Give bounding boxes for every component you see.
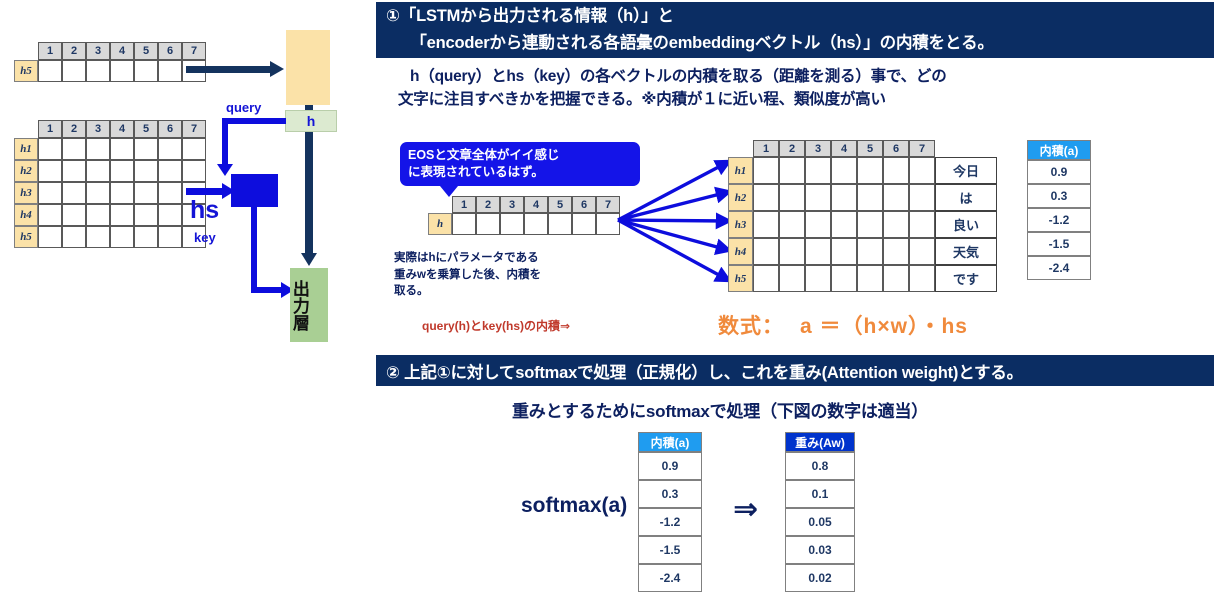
data-cell: [134, 60, 158, 82]
data-cell: [805, 184, 831, 211]
data-cell: [158, 204, 182, 226]
data-cell: [831, 238, 857, 265]
col-header: 1: [38, 42, 62, 60]
row-label: h2: [14, 160, 38, 182]
data-cell: [779, 211, 805, 238]
data-cell: [110, 226, 134, 248]
data-cell: [909, 265, 935, 292]
col-header: 2: [779, 140, 805, 157]
data-cell: [158, 138, 182, 160]
section1-banner-line1: ①「LSTMから出力される情報（h）」と: [376, 1, 994, 32]
data-cell: [883, 265, 909, 292]
data-cell: [62, 160, 86, 182]
section1-note-line2: 重みwを乗算した後、内積を: [394, 267, 541, 284]
data-cell: [476, 213, 500, 235]
data-cell: [158, 182, 182, 204]
attention-box: [231, 174, 278, 207]
section1-h-table: 1 2 3 4 5 6 7 h: [428, 196, 620, 235]
data-cell: [86, 138, 110, 160]
dot-value: -2.4: [1027, 256, 1091, 280]
row-label: h5: [728, 265, 753, 292]
data-cell: [38, 160, 62, 182]
attention-out-horizontal: [251, 287, 283, 293]
section1-note: 実際はhにパラメータである 重みwを乗算した後、内積を 取る。: [394, 250, 541, 300]
weight-table-header: 重み(Aw): [785, 432, 855, 452]
data-cell: [779, 157, 805, 184]
col-header: 6: [572, 196, 596, 213]
left-top-table: 1 2 3 4 5 6 7 h5: [14, 42, 206, 82]
col-header: 2: [62, 120, 86, 138]
section2-dot-table: 内積(a) 0.9 0.3 -1.2 -1.5 -2.4: [638, 432, 702, 592]
data-cell: [805, 157, 831, 184]
section1-note-line3: 取る。: [394, 283, 541, 300]
navy-arrow-shaft: [186, 66, 272, 73]
col-header: 6: [158, 120, 182, 138]
data-cell: [38, 226, 62, 248]
data-cell: [883, 157, 909, 184]
data-cell: [38, 60, 62, 82]
key-label: key: [194, 230, 216, 245]
col-header: 5: [134, 120, 158, 138]
row-label: h4: [728, 238, 753, 265]
data-cell: [134, 138, 158, 160]
col-header: 2: [62, 42, 86, 60]
formula-label: 数式：: [718, 310, 784, 340]
data-cell: [86, 182, 110, 204]
col-header: 1: [38, 120, 62, 138]
weight-value: 0.8: [785, 452, 855, 480]
row-label: h: [428, 213, 452, 235]
data-cell: [779, 265, 805, 292]
data-cell: [86, 204, 110, 226]
data-cell: [86, 160, 110, 182]
data-cell: [134, 204, 158, 226]
data-cell: [753, 265, 779, 292]
section1-hs-table: 1 2 3 4 5 6 7 h1 今日 h2 は h3 良: [728, 140, 997, 292]
output-layer-label: 出力層: [290, 268, 308, 342]
row-label: h3: [728, 211, 753, 238]
dot-value: -1.5: [638, 536, 702, 564]
col-header: 3: [500, 196, 524, 213]
data-cell: [158, 226, 182, 248]
data-cell: [182, 138, 206, 160]
data-cell: [909, 211, 935, 238]
data-cell: [134, 182, 158, 204]
h-box: h: [285, 110, 337, 132]
word-cell: は: [935, 184, 997, 211]
dot-product-note: query(h)とkey(hs)の内積⇒: [422, 317, 570, 334]
data-cell: [857, 157, 883, 184]
query-label: query: [226, 100, 261, 115]
navy-arrow-head-down: [301, 253, 317, 266]
section1-body-line2: 文字に注目すべきかを把握できる。※内積が１に近い程、類似度が高い: [398, 89, 886, 111]
data-cell: [857, 211, 883, 238]
left-bottom-table: 1 2 3 4 5 6 7 h1 h2 h3 h4: [14, 120, 206, 248]
dot-value: 0.9: [1027, 160, 1091, 184]
data-cell: [38, 204, 62, 226]
data-cell: [158, 160, 182, 182]
eos-callout-line1: EOSと文章全体がイイ感じ: [408, 147, 632, 164]
data-cell: [779, 238, 805, 265]
data-cell: [805, 238, 831, 265]
row-label: h1: [14, 138, 38, 160]
data-cell: [110, 182, 134, 204]
section1-banner: ①「LSTMから出力される情報（h）」と 「encoderから連動される各語彙の…: [376, 2, 1214, 58]
dot-value: 0.3: [1027, 184, 1091, 208]
data-cell: [779, 184, 805, 211]
data-cell: [831, 265, 857, 292]
col-header: 7: [182, 42, 206, 60]
dot-value: -1.2: [1027, 208, 1091, 232]
hs-arrow-shaft: [186, 188, 224, 195]
section1-banner-line2: 「encoderから連動される各語彙のembeddingベクトル（hs）」の内積…: [376, 32, 994, 59]
data-cell: [62, 138, 86, 160]
data-cell: [805, 265, 831, 292]
row-label: h3: [14, 182, 38, 204]
data-cell: [805, 211, 831, 238]
data-cell: [753, 238, 779, 265]
data-cell: [857, 184, 883, 211]
data-cell: [857, 238, 883, 265]
col-header: 5: [134, 42, 158, 60]
col-header: 4: [110, 120, 134, 138]
data-cell: [134, 226, 158, 248]
dot-value: -2.4: [638, 564, 702, 592]
data-cell: [857, 265, 883, 292]
section2-subtitle: 重みとするためにsoftmaxで処理（下図の数字は適当）: [512, 400, 928, 424]
data-cell: [86, 60, 110, 82]
col-header: 2: [476, 196, 500, 213]
query-path-vertical: [222, 118, 228, 166]
col-header: 3: [86, 120, 110, 138]
eos-callout: EOSと文章全体がイイ感じ に表現されているはず。: [400, 142, 640, 197]
col-header: 5: [548, 196, 572, 213]
data-cell: [62, 204, 86, 226]
data-cell: [500, 213, 524, 235]
formula-expression: a ＝（h×w）・hs: [800, 310, 968, 340]
section2-banner-text: ② 上記①に対してsoftmaxで処理（正規化）し、これを重み(Attentio…: [386, 359, 1023, 383]
data-cell: [452, 213, 476, 235]
eos-callout-line2: に表現されているはず。: [408, 164, 632, 181]
eos-callout-body: EOSと文章全体がイイ感じ に表現されているはず。: [400, 142, 640, 186]
implies-arrow: ⇒: [733, 495, 758, 525]
word-cell: 良い: [935, 211, 997, 238]
data-cell: [158, 60, 182, 82]
data-cell: [62, 60, 86, 82]
section1-note-line1: 実際はhにパラメータである: [394, 250, 541, 267]
data-cell: [548, 213, 572, 235]
query-path-horizontal: [222, 118, 286, 124]
data-cell: [134, 160, 158, 182]
col-header: 7: [909, 140, 935, 157]
data-cell: [909, 184, 935, 211]
dot-value: 0.9: [638, 452, 702, 480]
data-cell: [883, 184, 909, 211]
word-cell: 今日: [935, 157, 997, 184]
row-label: h4: [14, 204, 38, 226]
data-cell: [110, 60, 134, 82]
data-cell: [831, 157, 857, 184]
data-cell: [110, 204, 134, 226]
data-cell: [38, 182, 62, 204]
dot-value: 0.3: [638, 480, 702, 508]
data-cell: [909, 238, 935, 265]
col-header: 5: [857, 140, 883, 157]
row-label: h1: [728, 157, 753, 184]
col-header: 6: [158, 42, 182, 60]
col-header: 4: [524, 196, 548, 213]
data-cell: [753, 157, 779, 184]
softmax-label: softmax(a): [521, 494, 627, 518]
section1-dot-table: 内積(a) 0.9 0.3 -1.2 -1.5 -2.4: [1027, 140, 1091, 280]
weight-value: 0.02: [785, 564, 855, 592]
col-header: 6: [883, 140, 909, 157]
data-cell: [909, 157, 935, 184]
h-box-label: h: [307, 113, 316, 129]
lstm-box: [286, 30, 330, 105]
navy-arrow-head: [270, 61, 284, 77]
data-cell: [62, 182, 86, 204]
output-layer-box: 出力層: [290, 268, 328, 342]
row-label: h2: [728, 184, 753, 211]
section2-weight-table: 重み(Aw) 0.8 0.1 0.05 0.03 0.02: [785, 432, 855, 592]
data-cell: [883, 211, 909, 238]
weight-value: 0.03: [785, 536, 855, 564]
col-header: 3: [86, 42, 110, 60]
dot-value: -1.5: [1027, 232, 1091, 256]
word-cell: 天気: [935, 238, 997, 265]
dot-table-header: 内積(a): [1027, 140, 1091, 160]
data-cell: [572, 213, 596, 235]
data-cell: [883, 238, 909, 265]
col-header: 4: [110, 42, 134, 60]
dot-table-header: 内積(a): [638, 432, 702, 452]
row-label: h5: [14, 60, 38, 82]
data-cell: [831, 211, 857, 238]
data-cell: [110, 138, 134, 160]
data-cell: [182, 160, 206, 182]
attention-out-vertical: [251, 207, 257, 293]
col-header: 1: [753, 140, 779, 157]
data-cell: [62, 226, 86, 248]
data-cell: [753, 211, 779, 238]
weight-value: 0.1: [785, 480, 855, 508]
col-header: 4: [831, 140, 857, 157]
data-cell: [831, 184, 857, 211]
dot-value: -1.2: [638, 508, 702, 536]
section1-body-line1: h（query）とhs（key）の各ベクトルの内積を取る（距離を測る）事で、どの: [410, 66, 947, 88]
col-header: 1: [452, 196, 476, 213]
weight-value: 0.05: [785, 508, 855, 536]
section2-banner: ② 上記①に対してsoftmaxで処理（正規化）し、これを重み(Attentio…: [376, 355, 1214, 386]
data-cell: [86, 226, 110, 248]
word-cell: です: [935, 265, 997, 292]
data-cell: [38, 138, 62, 160]
row-label: h5: [14, 226, 38, 248]
data-cell: [110, 160, 134, 182]
data-cell: [524, 213, 548, 235]
col-header: 7: [182, 120, 206, 138]
col-header: 3: [805, 140, 831, 157]
hs-label: hs: [190, 196, 219, 225]
data-cell: [753, 184, 779, 211]
